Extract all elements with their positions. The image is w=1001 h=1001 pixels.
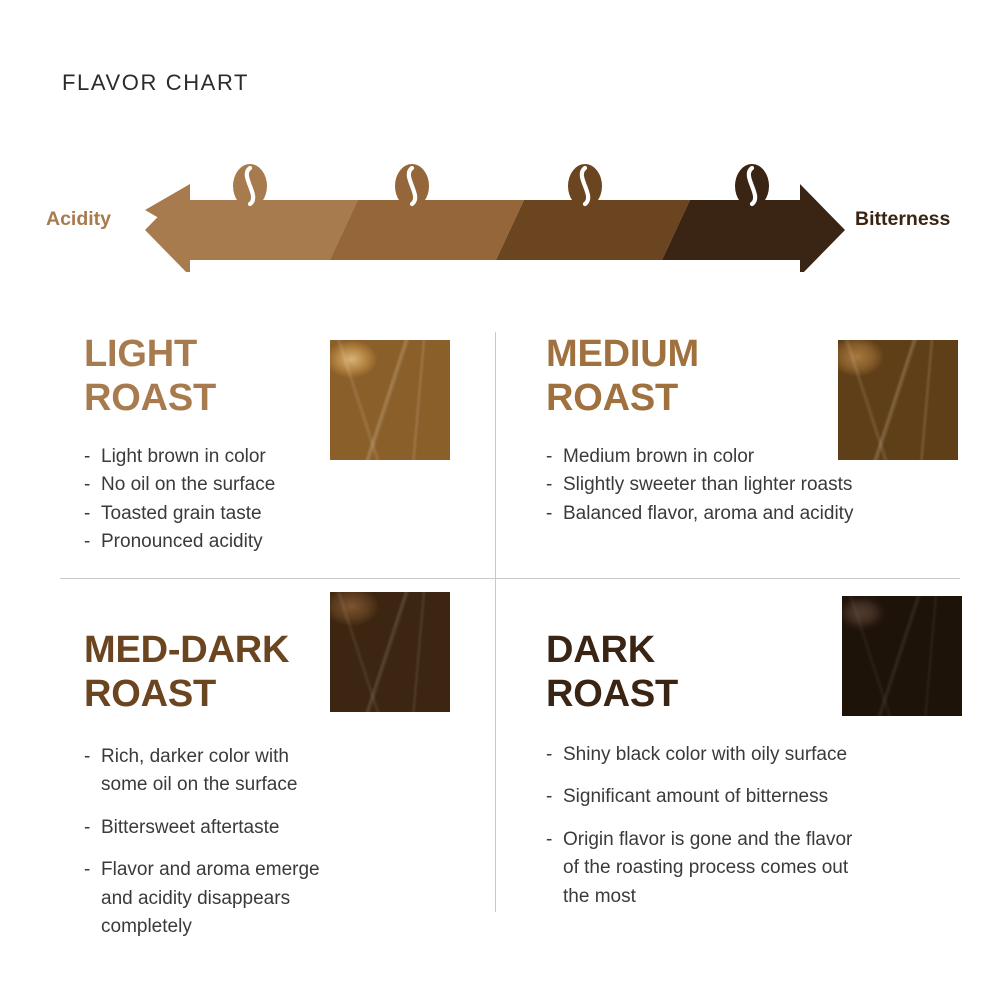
list-item: Slightly sweeter than lighter roasts	[546, 471, 966, 500]
list-item: Origin flavor is gone and the flavor of …	[546, 826, 966, 912]
page-title: FLAVOR CHART	[62, 70, 249, 96]
roast-bullets-dark: Shiny black color with oily surface Sign…	[546, 741, 966, 912]
scale-segment-light-body	[190, 200, 358, 260]
list-item: Bittersweet aftertaste	[84, 814, 484, 843]
light-roast-beans-photo	[330, 340, 450, 460]
horizontal-divider	[60, 578, 960, 579]
roast-scale: LIGHT MEDIUM MED-DARK DARK	[0, 160, 1001, 272]
roast-bullets-med-dark: Rich, darker color with some oil on the …	[84, 743, 484, 942]
list-item: Balanced flavor, aroma and acidity	[546, 500, 966, 529]
list-item: Toasted grain taste	[84, 500, 484, 529]
list-item: Shiny black color with oily surface	[546, 741, 966, 770]
list-item: No oil on the surface	[84, 471, 484, 500]
coffee-bean-icon-light	[233, 164, 267, 208]
list-item: Rich, darker color with some oil on the …	[84, 743, 484, 800]
axis-label-acidity: Acidity	[46, 208, 111, 231]
scale-segment-med-dark[interactable]	[496, 200, 690, 260]
list-item: Significant amount of bitterness	[546, 783, 966, 812]
axis-label-bitterness: Bitterness	[855, 208, 950, 231]
coffee-bean-icon-medium	[395, 164, 429, 208]
list-item: Flavor and aroma emerge and acidity disa…	[84, 856, 484, 942]
scale-segment-medium[interactable]	[330, 200, 524, 260]
roast-bullets-light: Light brown in color No oil on the surfa…	[84, 443, 484, 557]
dark-roast-beans-photo	[842, 596, 962, 716]
med-dark-roast-beans-photo	[330, 592, 450, 712]
coffee-bean-icon-med-dark	[568, 164, 602, 208]
coffee-bean-icon-dark	[735, 164, 769, 208]
list-item: Pronounced acidity	[84, 528, 484, 557]
roast-scale-arrow	[0, 160, 1001, 272]
vertical-divider	[495, 332, 496, 912]
medium-roast-beans-photo	[838, 340, 958, 460]
